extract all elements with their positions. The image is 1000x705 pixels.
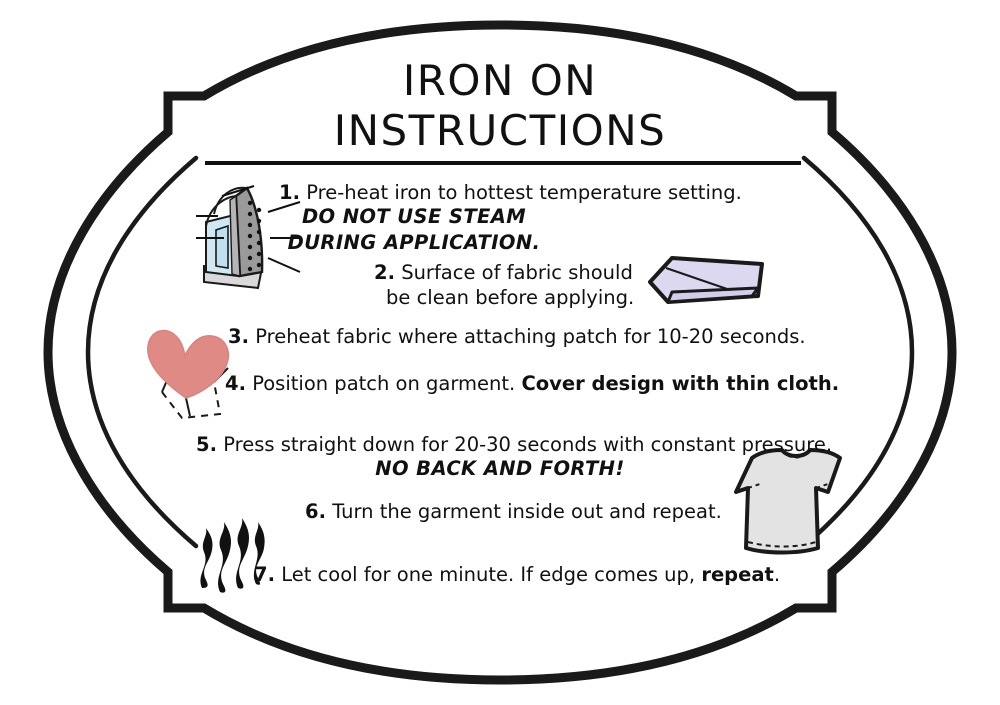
step-6-number: 6. — [305, 500, 326, 523]
step-6-text: Turn the garment inside out and repeat. — [332, 500, 722, 523]
title-line-2: INSTRUCTIONS — [0, 106, 1000, 156]
step-7-text-before: Let cool for one minute. If edge comes u… — [281, 563, 695, 586]
step-2-text-line-2: be clean before applying. — [386, 285, 634, 310]
title-line-1: IRON ON — [0, 56, 1000, 106]
step-1-text: Pre-heat iron to hottest temperature set… — [306, 181, 742, 204]
step-1: 1. Pre-heat iron to hottest temperature … — [279, 180, 742, 205]
step-4: 4. Position patch on garment. Cover desi… — [225, 371, 839, 396]
step-4-number: 4. — [225, 372, 246, 395]
step-1-emphasis-line-2: DURING APPLICATION. — [0, 230, 1000, 255]
step-7-number: 7. — [254, 563, 275, 586]
step-1-emphasis-line-1: DO NOT USE STEAM — [0, 204, 1000, 229]
step-3-text: Preheat fabric where attaching patch for… — [255, 325, 805, 348]
step-3-number: 3. — [228, 325, 249, 348]
page-title: IRON ON INSTRUCTIONS — [0, 56, 1000, 156]
step-3: 3. Preheat fabric where attaching patch … — [228, 324, 806, 349]
iron-on-instructions-card: IRON ON INSTRUCTIONS 1. Pre-heat iron to… — [0, 0, 1000, 705]
step-6: 6. Turn the garment inside out and repea… — [305, 499, 722, 524]
step-2: 2. Surface of fabric should — [374, 260, 633, 285]
step-5: 5. Press straight down for 20-30 seconds… — [196, 432, 832, 457]
step-4-bold-text: Cover design with thin cloth. — [521, 372, 839, 395]
title-divider — [205, 161, 801, 165]
step-7: 7. Let cool for one minute. If edge come… — [254, 562, 780, 587]
step-4-text: Position patch on garment. — [252, 372, 515, 395]
step-1-number: 1. — [279, 181, 300, 204]
content-layer: IRON ON INSTRUCTIONS 1. Pre-heat iron to… — [0, 0, 1000, 705]
step-5-text: Press straight down for 20-30 seconds wi… — [223, 433, 832, 456]
step-2-text-line-1: Surface of fabric should — [401, 261, 633, 284]
step-2-number: 2. — [374, 261, 395, 284]
step-7-text-after: . — [774, 563, 780, 586]
step-7-bold-text: repeat — [701, 563, 774, 586]
step-5-emphasis-line: NO BACK AND FORTH! — [0, 456, 1000, 481]
step-5-number: 5. — [196, 433, 217, 456]
